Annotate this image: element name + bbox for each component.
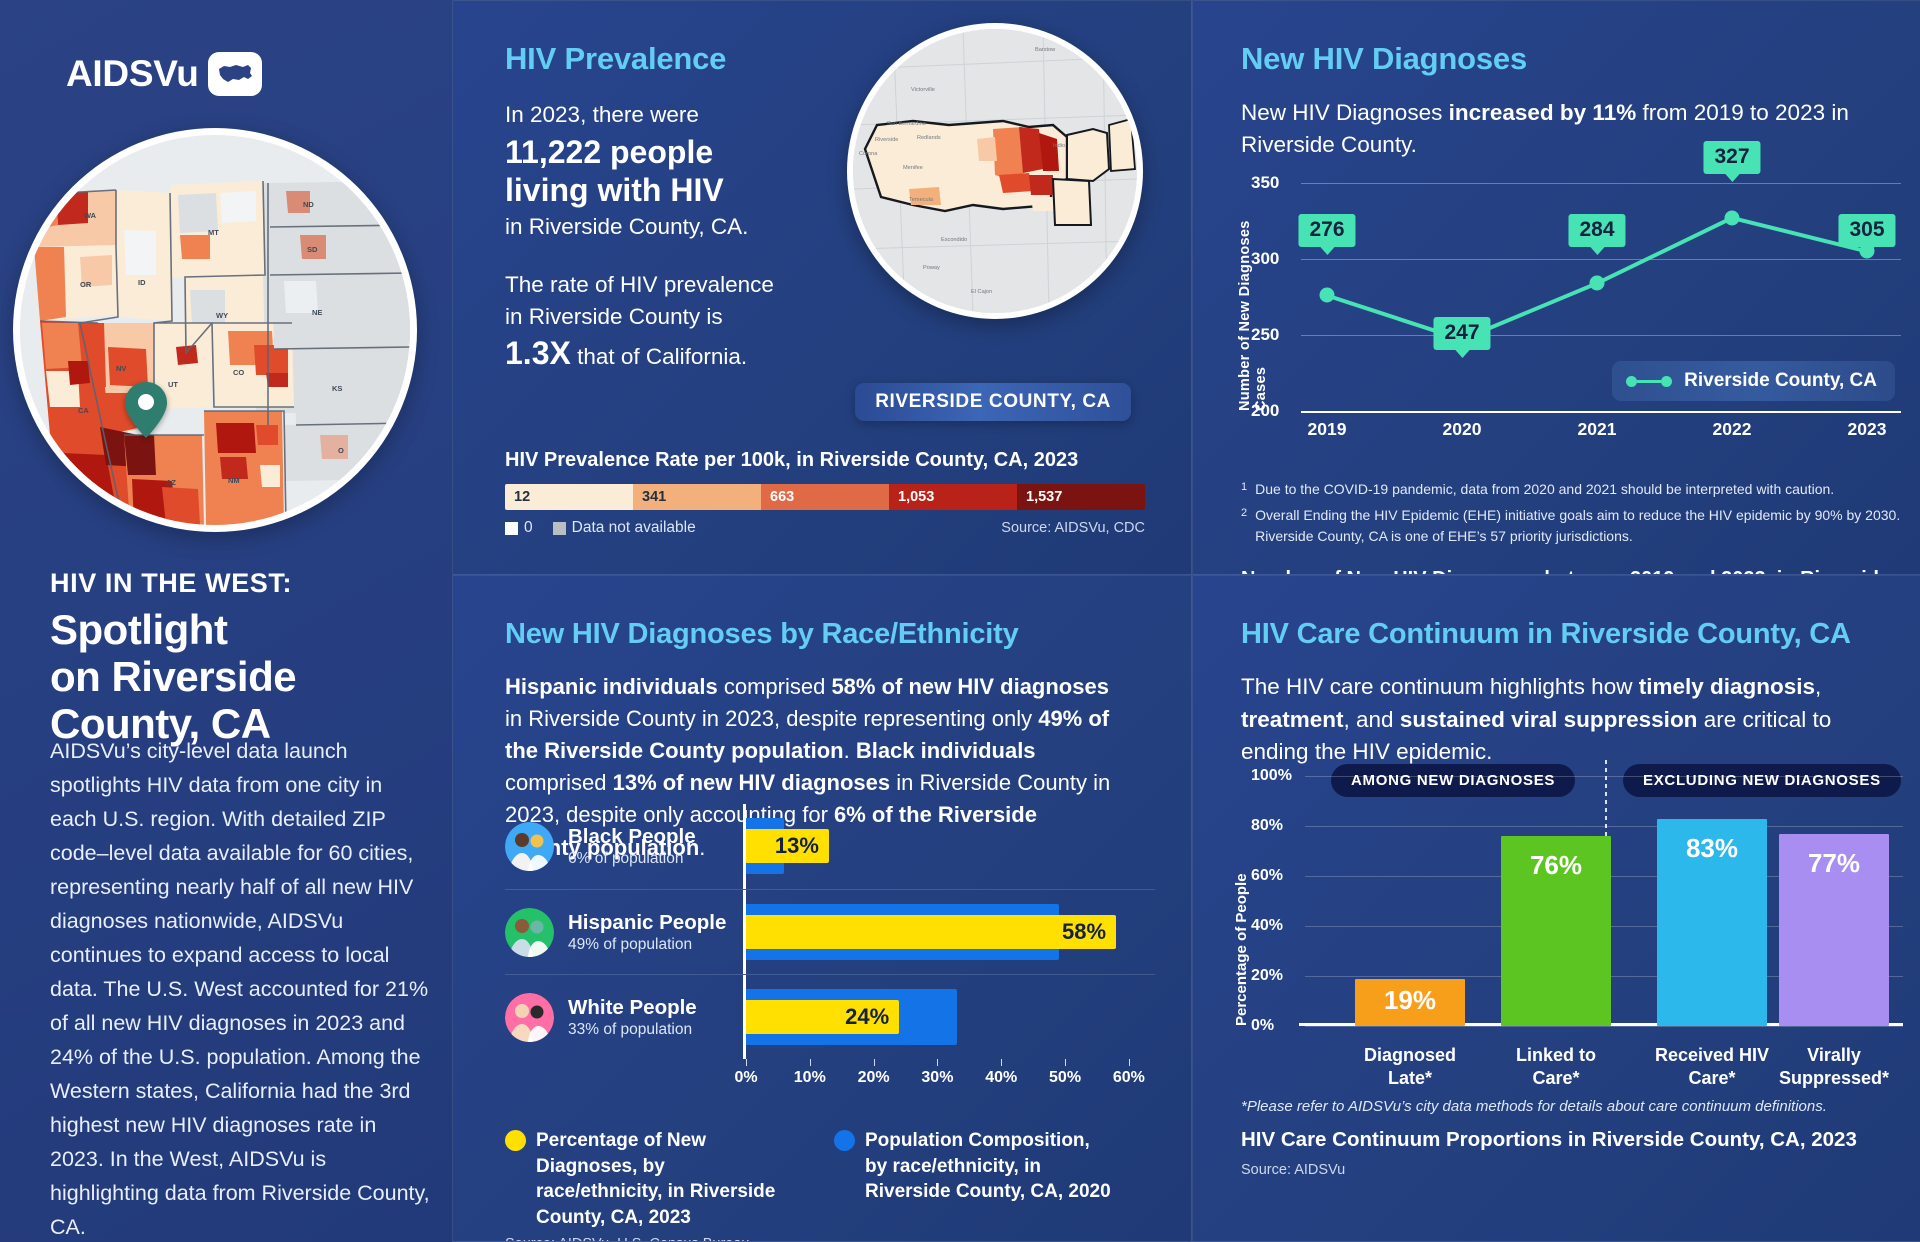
x-axis-tick: 2019 — [1308, 419, 1347, 440]
x-axis-tick-mark — [1129, 1059, 1130, 1066]
sidebar: AIDSVu — [0, 0, 452, 1242]
footnote-item: 1 Due to the COVID-19 pandemic, data fro… — [1241, 479, 1901, 499]
y-axis-tick: 80% — [1251, 817, 1283, 835]
race-bars: 13% — [743, 804, 1155, 889]
prevalence-line-1: In 2023, there were — [505, 99, 883, 131]
prevalence-multiplier-rest: that of California. — [571, 344, 747, 369]
footnote-item: 2 Overall Ending the HIV Epidemic (EHE) … — [1241, 505, 1901, 546]
panel-new-hiv-diagnoses: New HIV Diagnoses New HIV Diagnoses incr… — [1192, 0, 1920, 575]
emphasis-text: Black individuals — [856, 738, 1036, 763]
legend-na-label: Data not available — [572, 519, 696, 537]
legend-stop: 1,537 — [1017, 484, 1145, 510]
prevalence-multiplier: 1.3X — [505, 335, 571, 371]
line-chart-y-axis-label: Number of New Diagnoses Cases — [1237, 183, 1269, 411]
continuum-bar: 77% — [1779, 834, 1889, 1027]
svg-text:KS: KS — [332, 384, 342, 393]
diagnoses-caption: Number of New HIV Diagnoses, between 201… — [1241, 566, 1920, 575]
data-label: 247 — [1433, 317, 1490, 350]
line-chart-legend: Riverside County, CA — [1612, 361, 1895, 401]
x-axis-tick-label: 50% — [1049, 1069, 1081, 1087]
legend-item: Percentage of New Diagnoses, by race/eth… — [505, 1128, 788, 1231]
race-chart-row: Hispanic People49% of population58% — [505, 889, 1155, 974]
svg-text:WY: WY — [216, 311, 228, 320]
svg-text:CA: CA — [78, 406, 89, 415]
infographic-page: AIDSVu — [0, 0, 1920, 1242]
prevalence-multiplier-row: 1.3X that of California. — [505, 335, 883, 372]
sidebar-title-line-1: Spotlight — [50, 606, 422, 653]
race-bar-chart: Black People6% of population13%Hispanic … — [505, 804, 1155, 1097]
x-axis-tick-label: 40% — [985, 1069, 1017, 1087]
svg-text:Redlands: Redlands — [917, 135, 941, 141]
svg-text:NM: NM — [228, 476, 240, 485]
y-axis-tick: 100% — [1251, 767, 1292, 785]
x-axis-tick: 2023 — [1848, 419, 1887, 440]
race-name: White People — [568, 996, 743, 1020]
panel-hiv-prevalence: HIV Prevalence In 2023, there were 11,22… — [452, 0, 1192, 575]
plain-text: comprised — [505, 770, 613, 795]
brand-logo[interactable]: AIDSVu — [0, 0, 452, 96]
x-axis-tick-label: 30% — [921, 1069, 953, 1087]
grid-line — [1305, 776, 1903, 777]
svg-text:Riverside: Riverside — [875, 137, 898, 143]
footnote-text: Overall Ending the HIV Epidemic (EHE) in… — [1255, 505, 1901, 546]
y-axis-tick: 40% — [1251, 917, 1283, 935]
svg-text:Indio: Indio — [1053, 143, 1065, 149]
race-title: New HIV Diagnoses by Race/Ethnicity — [505, 618, 1113, 651]
bar-value-label: 77% — [1808, 848, 1860, 879]
y-axis-tick: 300 — [1251, 249, 1279, 269]
prevalence-legend-footer: 0 Data not available Source: AIDSVu, CDC — [505, 519, 1145, 537]
race-population-share: 33% of population — [568, 1021, 743, 1039]
x-axis-tick-mark — [874, 1059, 875, 1066]
diagnoses-bar: 13% — [746, 829, 829, 863]
svg-text:OR: OR — [80, 280, 92, 289]
plain-text: New HIV Diagnoses — [1241, 100, 1449, 125]
x-axis-tick-mark — [1001, 1059, 1002, 1066]
sidebar-kicker: HIV IN THE WEST: — [50, 568, 422, 599]
panel-diagnoses-by-race: New HIV Diagnoses by Race/Ethnicity Hisp… — [452, 575, 1192, 1242]
svg-text:SD: SD — [307, 245, 318, 254]
svg-text:CO: CO — [233, 368, 244, 377]
y-axis-tick: 350 — [1251, 173, 1279, 193]
x-axis-tick-mark — [1065, 1059, 1066, 1066]
prevalence-legend: HIV Prevalence Rate per 100k, in Riversi… — [505, 449, 1145, 537]
continuum-source: Source: AIDSVu — [1241, 1162, 1345, 1178]
svg-text:O: O — [338, 446, 344, 455]
y-axis-tick: 200 — [1251, 401, 1279, 421]
prevalence-legend-title: HIV Prevalence Rate per 100k, in Riversi… — [505, 449, 1145, 472]
data-label: 327 — [1703, 141, 1760, 174]
data-point — [1590, 276, 1605, 291]
diagnoses-footnotes: 1 Due to the COVID-19 pandemic, data fro… — [1241, 479, 1901, 552]
x-axis-tick-label: 20% — [858, 1069, 890, 1087]
sidebar-body-text: AIDSVu’s city-level data launch spotligh… — [50, 735, 432, 1242]
emphasis-text: timely diagnosis — [1639, 674, 1815, 699]
race-row-labels: White People33% of population — [568, 996, 743, 1039]
pill-among-new-diagnoses: AMONG NEW DIAGNOSES — [1331, 764, 1575, 797]
prevalence-title: HIV Prevalence — [505, 41, 883, 77]
footnote-marker: 2 — [1241, 505, 1247, 546]
legend-stop: 341 — [633, 484, 761, 510]
continuum-x-axis-label: DiagnosedLate* — [1364, 1044, 1456, 1089]
emphasis-text: sustained viral suppression — [1400, 707, 1698, 732]
svg-text:Barstow: Barstow — [1035, 47, 1056, 53]
data-label: 305 — [1838, 214, 1895, 247]
footnote-marker: 1 — [1241, 479, 1247, 499]
prevalence-line-3: in Riverside County, CA. — [505, 211, 883, 243]
legend-label: Population Composition, by race/ethnicit… — [865, 1128, 1117, 1231]
x-axis-line — [1301, 411, 1901, 413]
race-population-share: 6% of population — [568, 850, 743, 868]
prevalence-stat-line-1: 11,222 people — [505, 134, 883, 171]
race-chart-legend: Percentage of New Diagnoses, by race/eth… — [505, 1128, 1117, 1231]
sidebar-heading: HIV IN THE WEST: Spotlight on Riverside … — [50, 568, 422, 747]
continuum-y-axis-label: Percentage of People — [1233, 776, 1250, 1026]
continuum-bar: 76% — [1501, 836, 1611, 1026]
sidebar-title-line-2: on Riverside — [50, 653, 422, 700]
x-axis-tick-label: 10% — [794, 1069, 826, 1087]
emphasis-text: 58% of new HIV diagnoses — [831, 674, 1109, 699]
race-chart-x-axis: 0%10%20%30%40%50%60% — [743, 1059, 1155, 1097]
diagnoses-title: New HIV Diagnoses — [1241, 41, 1853, 77]
continuum-title: HIV Care Continuum in Riverside County, … — [1241, 618, 1883, 651]
race-source: Source: AIDSVu, U.S. Census Bureau — [505, 1236, 749, 1242]
svg-text:NV: NV — [116, 364, 126, 373]
legend-stop: 1,053 — [889, 484, 1017, 510]
sidebar-title: Spotlight on Riverside County, CA — [50, 606, 422, 747]
plain-text: , — [1815, 674, 1821, 699]
location-pin-icon — [123, 381, 169, 439]
bar-value-label: 19% — [1384, 985, 1436, 1016]
prevalence-para-2b: in Riverside County is — [505, 301, 883, 333]
emphasis-text: increased by 11% — [1449, 100, 1637, 125]
race-name: Hispanic People — [568, 911, 743, 935]
bar-value-label: 83% — [1686, 833, 1738, 864]
prevalence-stat-line-2: living with HIV — [505, 172, 883, 209]
continuum-x-axis-label: Linked toCare* — [1516, 1044, 1596, 1089]
diagnoses-bar: 58% — [746, 915, 1116, 949]
legend-zero-swatch-icon — [505, 522, 518, 535]
y-axis-tick: 250 — [1251, 325, 1279, 345]
svg-text:Victorville: Victorville — [911, 87, 935, 93]
plain-text: The HIV care continuum highlights how — [1241, 674, 1639, 699]
bar-value-label: 76% — [1530, 850, 1582, 881]
prevalence-para-2a: The rate of HIV prevalence — [505, 269, 883, 301]
svg-text:Corona: Corona — [859, 151, 878, 157]
x-axis-tick-mark — [810, 1059, 811, 1066]
people-avatar-icon — [505, 822, 554, 871]
prevalence-source: Source: AIDSVu, CDC — [1001, 520, 1145, 536]
svg-text:San Bernardino: San Bernardino — [887, 121, 926, 127]
emphasis-text: Hispanic individuals — [505, 674, 718, 699]
plain-text: in Riverside County in 2023, despite rep… — [505, 706, 1038, 731]
yellow-dot-icon — [505, 1130, 526, 1151]
main-content: HIV Prevalence In 2023, there were 11,22… — [452, 0, 1920, 1242]
plain-text: comprised — [718, 674, 832, 699]
continuum-bar: 19% — [1355, 979, 1465, 1027]
usa-map-icon — [208, 52, 262, 96]
svg-text:ND: ND — [303, 200, 314, 209]
map-county-badge: RIVERSIDE COUNTY, CA — [855, 383, 1131, 421]
emphasis-text: 13% of new HIV diagnoses — [613, 770, 891, 795]
x-axis-tick: 2020 — [1443, 419, 1482, 440]
line-chart-legend-label: Riverside County, CA — [1684, 370, 1877, 392]
race-population-share: 49% of population — [568, 936, 743, 954]
x-axis-tick: 2021 — [1578, 419, 1617, 440]
x-axis-tick-mark — [746, 1059, 747, 1066]
svg-text:NE: NE — [312, 308, 322, 317]
people-avatar-icon — [505, 908, 554, 957]
svg-text:UT: UT — [168, 380, 178, 389]
continuum-plot-area: AMONG NEW DIAGNOSES EXCLUDING NEW DIAGNO… — [1305, 776, 1903, 1026]
brand-name: AIDSVu — [66, 53, 199, 95]
pill-excluding-new-diagnoses: EXCLUDING NEW DIAGNOSES — [1623, 764, 1901, 797]
footnote-text: Due to the COVID-19 pandemic, data from … — [1255, 479, 1834, 499]
people-avatar-icon — [505, 993, 554, 1042]
emphasis-text: treatment — [1241, 707, 1344, 732]
grid-line — [1305, 1026, 1903, 1027]
continuum-bar: 83% — [1657, 819, 1767, 1027]
legend-label: Percentage of New Diagnoses, by race/eth… — [536, 1128, 788, 1231]
continuum-x-axis-label: Received HIVCare* — [1655, 1044, 1769, 1089]
data-point — [1320, 288, 1335, 303]
legend-na-swatch-icon — [553, 522, 566, 535]
svg-text:El Cajon: El Cajon — [971, 289, 992, 295]
continuum-lede: The HIV care continuum highlights how ti… — [1241, 671, 1883, 769]
x-axis-tick-mark — [937, 1059, 938, 1066]
y-axis-tick: 60% — [1251, 867, 1283, 885]
race-bars: 58% — [743, 890, 1155, 974]
continuum-caption: HIV Care Continuum Proportions in Rivers… — [1241, 1128, 1857, 1152]
care-continuum-bar-chart: Percentage of People AMONG NEW DIAGNOSES… — [1233, 766, 1913, 1096]
panel-care-continuum: HIV Care Continuum in Riverside County, … — [1192, 575, 1920, 1242]
legend-line-marker-icon — [1626, 376, 1672, 387]
race-name: Black People — [568, 825, 743, 849]
svg-text:Poway: Poway — [923, 265, 940, 271]
race-chart-row: White People33% of population24% — [505, 974, 1155, 1059]
race-row-labels: Hispanic People49% of population — [568, 911, 743, 954]
legend-stop: 663 — [761, 484, 889, 510]
legend-stop: 12 — [505, 484, 633, 510]
race-chart-row: Black People6% of population13% — [505, 804, 1155, 889]
plain-text: . — [844, 738, 856, 763]
data-point — [1725, 210, 1740, 225]
x-axis-tick: 2022 — [1713, 419, 1752, 440]
line-chart-x-axis: 20192020202120222023 — [1301, 411, 1901, 441]
plain-text: , and — [1344, 707, 1400, 732]
race-bars: 24% — [743, 975, 1155, 1059]
x-axis-tick-label: 0% — [734, 1069, 757, 1087]
diagnoses-lede: New HIV Diagnoses increased by 11% from … — [1241, 97, 1853, 162]
data-label: 284 — [1568, 214, 1625, 247]
blue-dot-icon — [834, 1130, 855, 1151]
svg-text:Escondido: Escondido — [941, 237, 967, 243]
svg-text:MT: MT — [208, 228, 219, 237]
new-diagnoses-line-chart: Number of New Diagnoses Cases 2002503003… — [1241, 183, 1901, 443]
legend-zero-label: 0 — [524, 519, 533, 537]
y-axis-tick: 0% — [1251, 1017, 1274, 1035]
data-label: 276 — [1298, 214, 1355, 247]
continuum-x-axis-label: VirallySuppressed* — [1779, 1044, 1889, 1089]
grid-line — [1305, 826, 1903, 827]
legend-item: Population Composition, by race/ethnicit… — [834, 1128, 1117, 1231]
riverside-county-choropleth-map: Barstow Victorville San Bernardino River… — [847, 23, 1143, 319]
svg-text:AZ: AZ — [166, 478, 176, 487]
prevalence-legend-scale: 12 341 663 1,053 1,537 — [505, 484, 1145, 510]
west-region-choropleth-map: WA OR ID MT WY NV UT CO ND SD NE KS — [13, 128, 417, 532]
svg-text:Menifee: Menifee — [903, 165, 923, 171]
x-axis-tick-label: 60% — [1113, 1069, 1145, 1087]
diagnoses-bar: 24% — [746, 1000, 899, 1034]
svg-text:WA: WA — [84, 211, 97, 220]
race-row-labels: Black People6% of population — [568, 825, 743, 868]
continuum-note: *Please refer to AIDSVu’s city data meth… — [1241, 1098, 1827, 1115]
svg-text:Temecula: Temecula — [909, 197, 934, 203]
y-axis-tick: 20% — [1251, 967, 1283, 985]
svg-text:ID: ID — [138, 278, 146, 287]
